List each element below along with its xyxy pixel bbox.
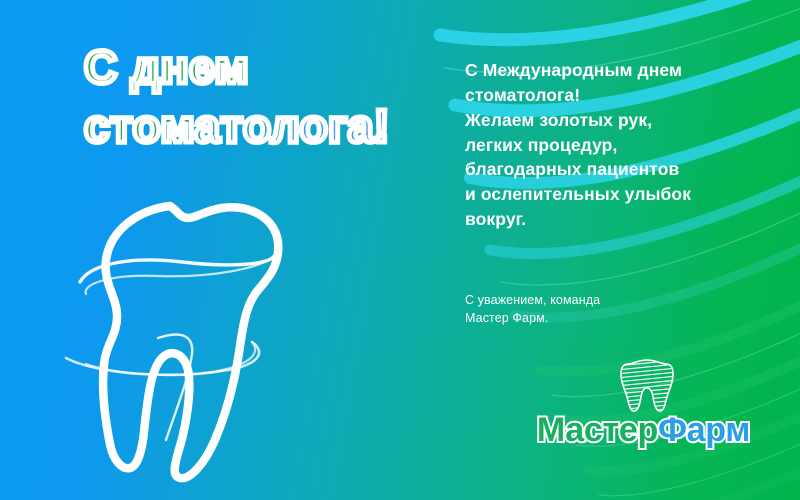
headline-line-2: стоматолога! xyxy=(84,103,484,150)
headline-line-1-text: С днем xyxy=(84,44,249,91)
logo-wordmark: МастерФарм xyxy=(521,411,766,450)
greeting-card: С днем стоматолога! С Международным днем… xyxy=(0,0,800,500)
company-logo: МастерФарм xyxy=(521,357,766,452)
signature-line: Мастер Фарм. xyxy=(465,309,745,327)
message-line: и ослепительных улыбок xyxy=(465,182,765,207)
logo-word-farm: Фарм xyxy=(658,411,750,450)
message-line: стоматолога! xyxy=(465,83,765,108)
headline-line-1: С днем xyxy=(84,44,484,91)
striped-tooth-icon xyxy=(618,357,676,415)
message-line: С Международным днем xyxy=(465,58,765,83)
tooth-illustration xyxy=(62,178,362,484)
message-line: легких процедур, xyxy=(465,133,765,158)
headline-line-2-text: стоматолога! xyxy=(84,103,390,150)
signature-line: С уважением, команда xyxy=(465,291,745,309)
message-line: благодарных пациентов xyxy=(465,157,765,182)
logo-word-master: Мастер xyxy=(537,411,658,450)
headline: С днем стоматолога! xyxy=(84,44,484,151)
message-block: С Международным днем стоматолога! Желаем… xyxy=(465,58,765,232)
signature-block: С уважением, команда Мастер Фарм. xyxy=(465,291,745,327)
message-line: Желаем золотых рук, xyxy=(465,108,765,133)
message-line: вокруг. xyxy=(465,207,765,232)
